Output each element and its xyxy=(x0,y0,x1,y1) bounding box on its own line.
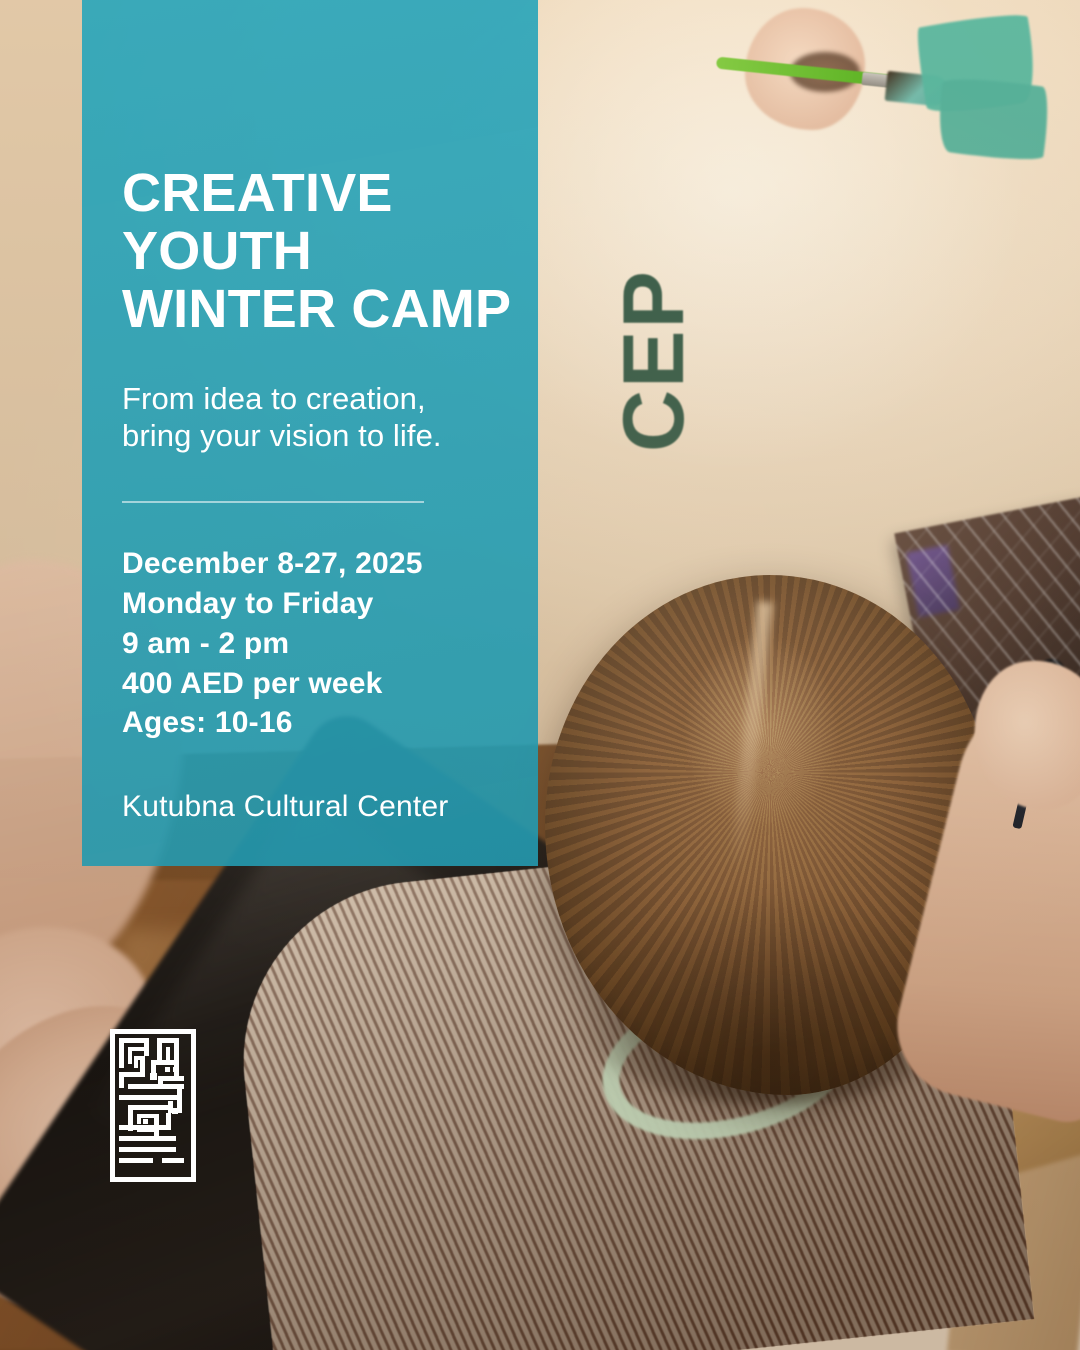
detail-ages: Ages: 10-16 xyxy=(122,703,538,743)
subtitle-line-2: bring your vision to life. xyxy=(122,418,538,454)
painted-leaf-lower xyxy=(933,73,1053,166)
subtitle: From idea to creation, bring your vision… xyxy=(122,381,538,454)
headline-line-1: CREATIVE xyxy=(122,165,538,223)
square-kufic-logo-icon xyxy=(110,1029,196,1182)
detail-time: 9 am - 2 pm xyxy=(122,624,538,664)
kutubna-logo xyxy=(110,1029,196,1182)
poster: CEP xyxy=(0,0,1080,1350)
detail-price: 400 AED per week xyxy=(122,664,538,704)
handwritten-letters: CEP xyxy=(612,269,696,452)
detail-dates: December 8-27, 2025 xyxy=(122,544,538,584)
divider xyxy=(122,501,424,503)
page-title: CREATIVE YOUTH WINTER CAMP xyxy=(122,165,538,338)
venue-name: Kutubna Cultural Center xyxy=(122,790,538,824)
info-panel: CREATIVE YOUTH WINTER CAMP From idea to … xyxy=(82,0,538,866)
headline-line-3: WINTER CAMP xyxy=(122,281,538,339)
panel-content: CREATIVE YOUTH WINTER CAMP From idea to … xyxy=(82,0,538,824)
detail-days: Monday to Friday xyxy=(122,584,538,624)
event-details: December 8-27, 2025 Monday to Friday 9 a… xyxy=(122,544,538,743)
subtitle-line-1: From idea to creation, xyxy=(122,381,538,417)
headline-line-2: YOUTH xyxy=(122,223,538,281)
